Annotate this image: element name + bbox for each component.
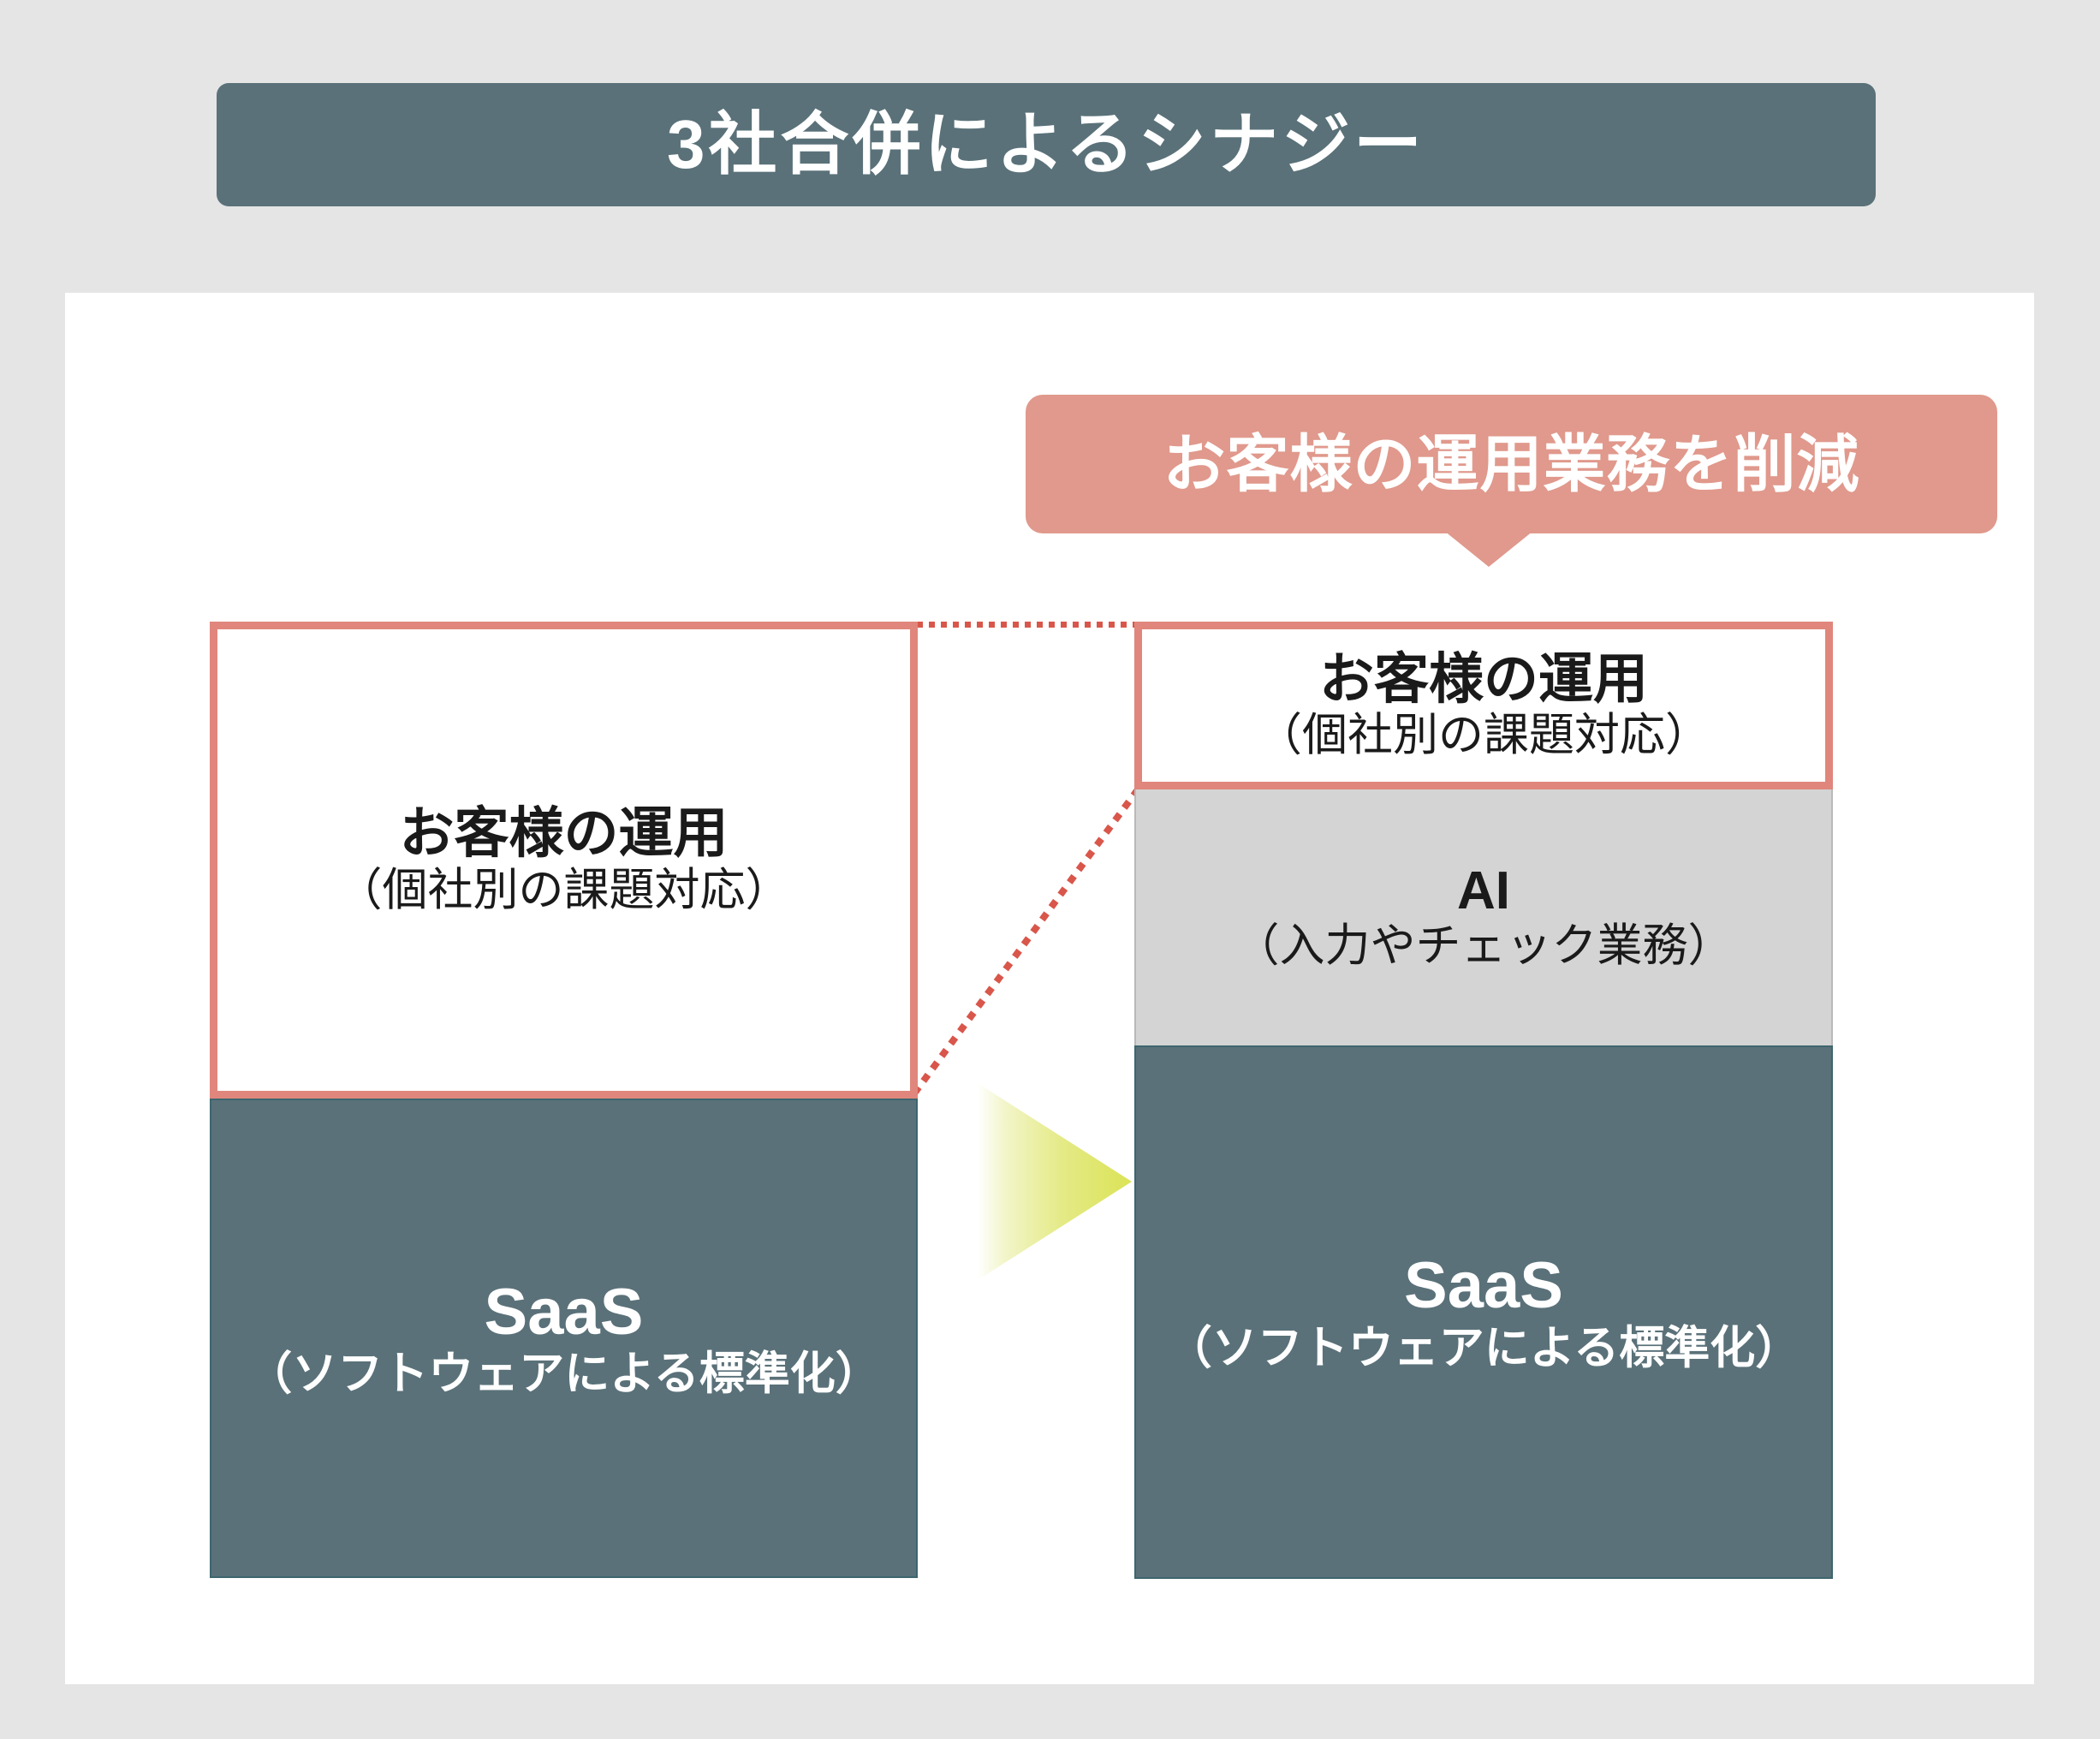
block-sub-label: （ソフトウェアによる標準化） — [1167, 1323, 1800, 1375]
title-banner: 3社合併によるシナジー — [217, 83, 1876, 206]
block-sub-label: （個社別の課題対応） — [337, 865, 791, 917]
block-saas-after[interactable]: SaaS （ソフトウェアによる標準化） — [1134, 1045, 1833, 1579]
dotted-connector-top-icon — [917, 622, 1135, 628]
block-main-label: AI — [1457, 862, 1510, 920]
block-customer-operations-after[interactable]: お客様の運用 （個社別の課題対応） — [1134, 622, 1833, 789]
block-main-label: SaaS — [485, 1276, 644, 1349]
before-state-column: お客様の運用 （個社別の課題対応） SaaS （ソフトウェアによる標準化） — [210, 622, 918, 1578]
block-sub-label: （個社別の課題対応） — [1257, 710, 1710, 762]
right-arrow-icon — [978, 1083, 1132, 1280]
block-sub-label: （入力やチェック業務） — [1234, 920, 1734, 973]
page-title: 3社合併によるシナジー — [667, 110, 1425, 179]
callout-bubble: お客様の運用業務を削減 — [1026, 395, 1997, 533]
speech-bubble-tail-icon — [1444, 531, 1533, 567]
block-sub-label: （ソフトウェアによる標準化） — [247, 1349, 880, 1401]
slide-root: 3社合併によるシナジー お客様の運用業務を削減 お客様の運用 （個社別の課題対応… — [0, 0, 2100, 1739]
block-main-label: SaaS — [1404, 1249, 1563, 1322]
dotted-connector-diagonal-icon — [907, 779, 1147, 1100]
callout-label: お客様の運用業務を削減 — [1163, 433, 1860, 496]
block-saas-before[interactable]: SaaS （ソフトウェアによる標準化） — [210, 1099, 918, 1578]
block-ai[interactable]: AI （入力やチェック業務） — [1134, 789, 1833, 1045]
block-main-label: お客様の運用 — [400, 803, 729, 865]
block-customer-operations-before[interactable]: お客様の運用 （個社別の課題対応） — [210, 622, 918, 1099]
block-main-label: お客様の運用 — [1319, 649, 1648, 711]
after-state-column: お客様の運用 （個社別の課題対応） AI （入力やチェック業務） SaaS （ソ… — [1134, 622, 1833, 1579]
